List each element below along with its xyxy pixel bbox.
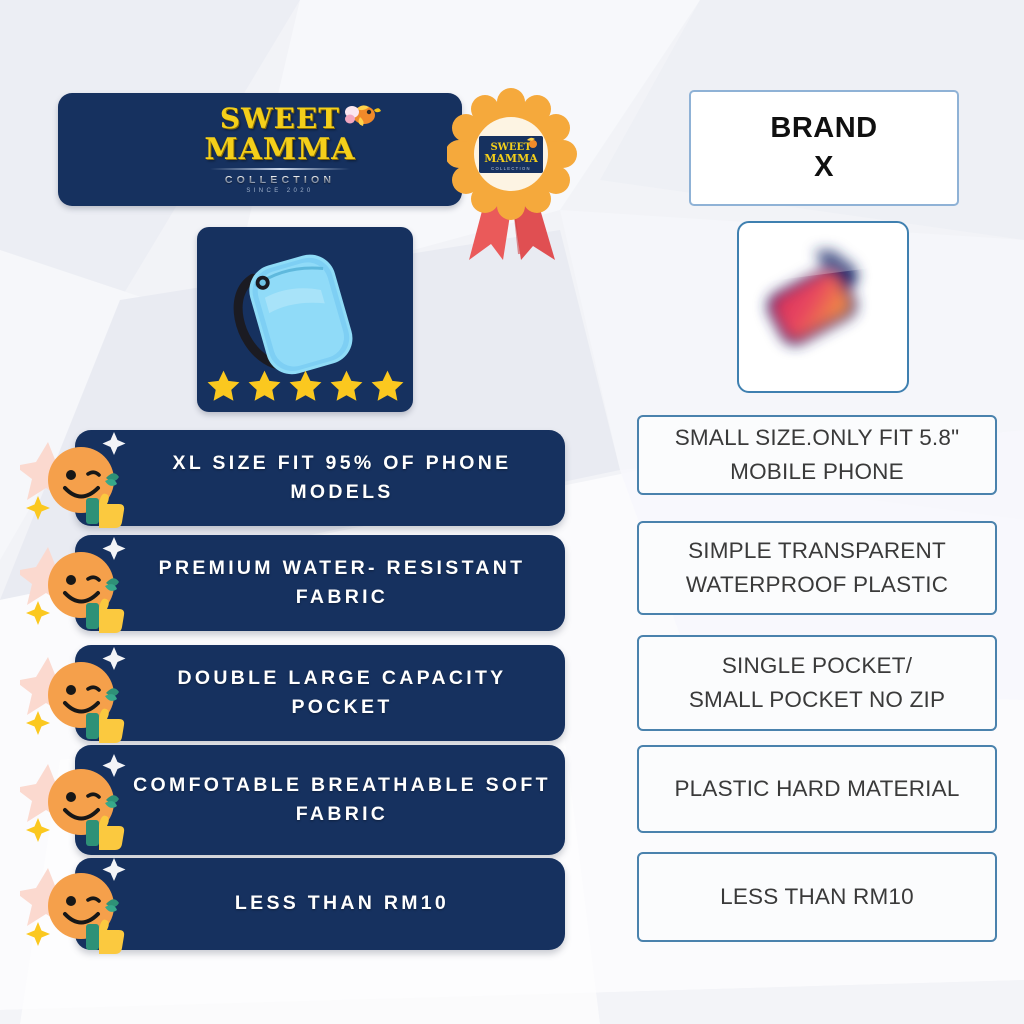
rival-brand-header: BRAND X (689, 90, 959, 206)
rival-feature-text: SINGLE POCKET/ SMALL POCKET NO ZIP (689, 649, 945, 717)
rival-feature-box[interactable]: SMALL SIZE.ONLY FIT 5.8" MOBILE PHONE (637, 415, 997, 495)
smiley-thumbs-up-icon (20, 641, 136, 745)
bee-icon (338, 99, 382, 133)
our-product-card (197, 227, 413, 412)
rival-feature-text: PLASTIC HARD MATERIAL (674, 772, 959, 806)
award-rosette-icon: SWEET MAMMA COLLECTION (447, 84, 577, 264)
feature-pill[interactable]: PREMIUM WATER- RESISTANT FABRIC (75, 535, 565, 631)
brand-logo-since: SINCE 2020 (204, 188, 355, 194)
smiley-thumbs-up-icon (20, 426, 136, 530)
phone-pouch-red-blurred-icon (739, 223, 909, 393)
badge-logo-line3: COLLECTION (491, 166, 531, 171)
star-icon (327, 367, 366, 406)
feature-pill[interactable]: LESS THAN RM10 (75, 858, 565, 950)
feature-row: XL SIZE FIT 95% OF PHONE MODELS (20, 430, 565, 526)
rival-feature-box[interactable]: SIMPLE TRANSPARENT WATERPROOF PLASTIC (637, 521, 997, 615)
smiley-thumbs-up-icon (20, 531, 136, 635)
feature-row: COMFOTABLE BREATHABLE SOFT FABRIC (20, 745, 565, 855)
rival-feature-box[interactable]: PLASTIC HARD MATERIAL (637, 745, 997, 833)
feature-row: DOUBLE LARGE CAPACITY POCKET (20, 645, 565, 741)
star-icon (368, 367, 407, 406)
feature-pill[interactable]: XL SIZE FIT 95% OF PHONE MODELS (75, 430, 565, 526)
feature-text: LESS THAN RM10 (235, 889, 449, 918)
smiley-thumbs-up-icon (20, 748, 136, 852)
brand-logo: SWEET MAMMA COLLECTION SINCE 2020 (204, 105, 355, 195)
feature-text: DOUBLE LARGE CAPACITY POCKET (133, 664, 551, 723)
feature-pill[interactable]: COMFOTABLE BREATHABLE SOFT FABRIC (75, 745, 565, 855)
star-icon (286, 367, 325, 406)
feature-row: PREMIUM WATER- RESISTANT FABRIC (20, 535, 565, 631)
star-icon (245, 367, 284, 406)
rival-feature-text: SIMPLE TRANSPARENT WATERPROOF PLASTIC (686, 534, 948, 602)
rival-feature-box[interactable]: SINGLE POCKET/ SMALL POCKET NO ZIP (637, 635, 997, 731)
rival-feature-text: LESS THAN RM10 (720, 880, 914, 914)
rating-stars (197, 367, 413, 406)
brand-logo-line2: MAMMA (204, 135, 355, 165)
star-icon (204, 367, 243, 406)
rival-brand-line2: X (814, 151, 834, 184)
smiley-thumbs-up-icon (20, 852, 136, 956)
feature-text: XL SIZE FIT 95% OF PHONE MODELS (133, 449, 551, 508)
logo-divider (210, 168, 349, 170)
brand-logo-line3: COLLECTION (204, 175, 355, 186)
feature-text: PREMIUM WATER- RESISTANT FABRIC (133, 554, 551, 613)
rival-feature-box[interactable]: LESS THAN RM10 (637, 852, 997, 942)
badge-logo-line2: MAMMA (484, 152, 538, 165)
feature-pill[interactable]: DOUBLE LARGE CAPACITY POCKET (75, 645, 565, 741)
brand-logo-line1: SWEET (204, 105, 355, 133)
brand-header-bar: SWEET MAMMA COLLECTION SINCE 2020 (58, 93, 462, 206)
feature-row: LESS THAN RM10 (20, 858, 565, 950)
feature-text: COMFOTABLE BREATHABLE SOFT FABRIC (133, 771, 551, 830)
rival-product-card (737, 221, 909, 393)
rival-brand-line1: BRAND (770, 112, 877, 145)
rival-feature-text: SMALL SIZE.ONLY FIT 5.8" MOBILE PHONE (675, 421, 960, 489)
